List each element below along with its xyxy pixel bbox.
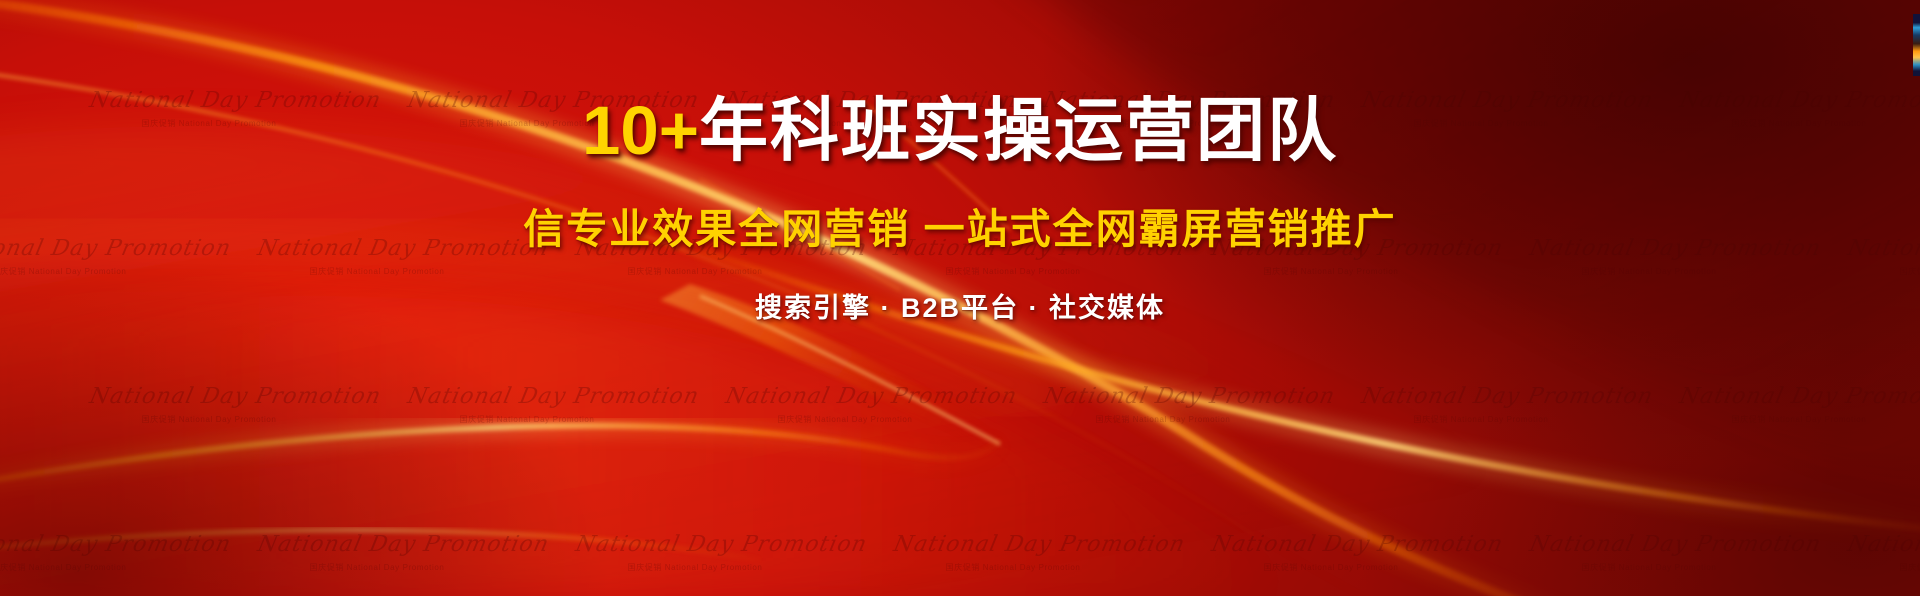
watermark-text: National Day Promotion — [723, 384, 966, 409]
watermark-text: National Day Promotion — [0, 532, 181, 557]
watermark-text: National Day Promotion — [87, 384, 330, 409]
subheadline: 信专业效果全网营销 一站式全网霸屏营销推广 — [0, 195, 1920, 255]
watermark-text: National Day Promotion — [1677, 384, 1920, 409]
promo-banner: National Day Promotion国庆促销 National Day … — [0, 0, 1920, 596]
watermark-text: National Day Promotion — [1527, 532, 1770, 557]
watermark-subtext: 国庆促销 National Day Promotion — [1362, 414, 1600, 425]
watermark-subtext: 国庆促销 National Day Promotion — [1848, 562, 1920, 573]
watermark-text: National Day Promotion — [1209, 532, 1452, 557]
watermark-text: National Day Promotion — [1845, 532, 1920, 557]
watermark-subtext: 国庆促销 National Day Promotion — [0, 562, 178, 573]
banner-content: 10+年科班实操运营团队 信专业效果全网营销 一站式全网霸屏营销推广 搜索引擎 … — [0, 96, 1920, 325]
watermark-subtext: 国庆促销 National Day Promotion — [1680, 414, 1918, 425]
tagline: 搜索引擎 · B2B平台 · 社交媒体 — [0, 286, 1920, 325]
watermark-subtext: 国庆促销 National Day Promotion — [894, 562, 1132, 573]
watermark-subtext: 国庆促销 National Day Promotion — [1044, 414, 1282, 425]
watermark-subtext: 国庆促销 National Day Promotion — [258, 562, 496, 573]
watermark-text: National Day Promotion — [255, 532, 498, 557]
watermark-text: National Day Promotion — [573, 532, 816, 557]
watermark-subtext: 国庆促销 National Day Promotion — [1212, 562, 1450, 573]
watermark-subtext: 国庆促销 National Day Promotion — [576, 562, 814, 573]
headline-text: 年科班实操运营团队 — [699, 92, 1338, 169]
watermark-subtext: 国庆促销 National Day Promotion — [408, 414, 646, 425]
headline: 10+年科班实操运营团队 — [0, 96, 1920, 165]
watermark-text: National Day Promotion — [405, 384, 648, 409]
adjacent-slide-sliver — [1913, 14, 1920, 76]
watermark-subtext: 国庆促销 National Day Promotion — [726, 414, 964, 425]
watermark-subtext: 国庆促销 National Day Promotion — [90, 414, 328, 425]
watermark-text: National Day Promotion — [1359, 384, 1602, 409]
watermark-text: National Day Promotion — [891, 532, 1134, 557]
headline-number: 10+ — [582, 92, 699, 169]
watermark-subtext: 国庆促销 National Day Promotion — [1530, 562, 1768, 573]
watermark-text: National Day Promotion — [1041, 384, 1284, 409]
